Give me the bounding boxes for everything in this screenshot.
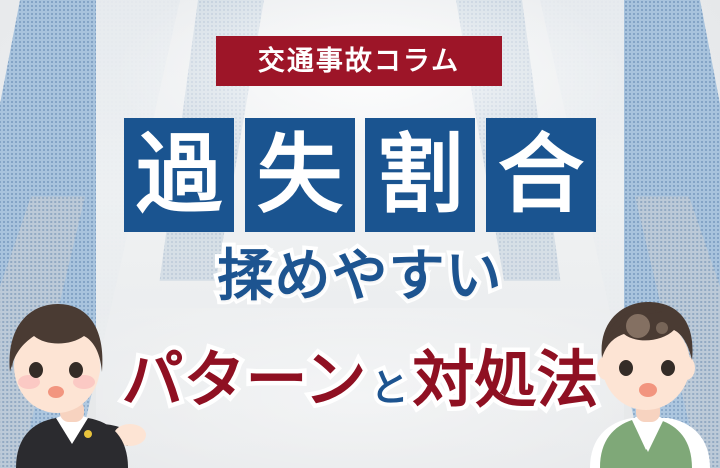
illustration-woman-in-suit (0, 288, 146, 468)
kanji-char-1: 過 (136, 132, 222, 218)
bottom-line-part1: パターン (122, 349, 367, 411)
kanji-box-3: 割 (365, 118, 475, 232)
woman-mouth (48, 386, 64, 398)
subline-text: 揉めやすい (218, 248, 503, 307)
kanji-box-1: 過 (124, 118, 234, 232)
man-eye-right (661, 360, 675, 376)
kanji-char-2: 失 (257, 132, 343, 218)
man-hair-highlight-1 (626, 314, 650, 338)
man-hair-highlight-2 (656, 322, 668, 334)
kanji-char-4: 合 (498, 132, 584, 218)
kanji-box-4: 合 (486, 118, 596, 232)
category-badge: 交通事故コラム (216, 36, 502, 86)
kanji-char-3: 割 (377, 132, 463, 218)
banner-canvas: 交通事故コラム 過 失 割 合 揉めやすい パターン と 対処法 (0, 0, 720, 468)
illustration-man-in-white-coat (582, 288, 720, 468)
woman-eye-left (29, 362, 43, 378)
man-eye-left (619, 360, 633, 376)
bottom-line-conjunction: と (370, 369, 408, 407)
man-mouth (639, 383, 657, 397)
headline-kanji-row: 過 失 割 合 (124, 118, 596, 232)
kanji-box-2: 失 (245, 118, 355, 232)
category-badge-label: 交通事故コラム (258, 48, 460, 75)
bottom-line-part2: 対処法 (412, 349, 598, 411)
woman-lapel-pin (84, 430, 92, 438)
woman-eye-right (69, 362, 83, 378)
